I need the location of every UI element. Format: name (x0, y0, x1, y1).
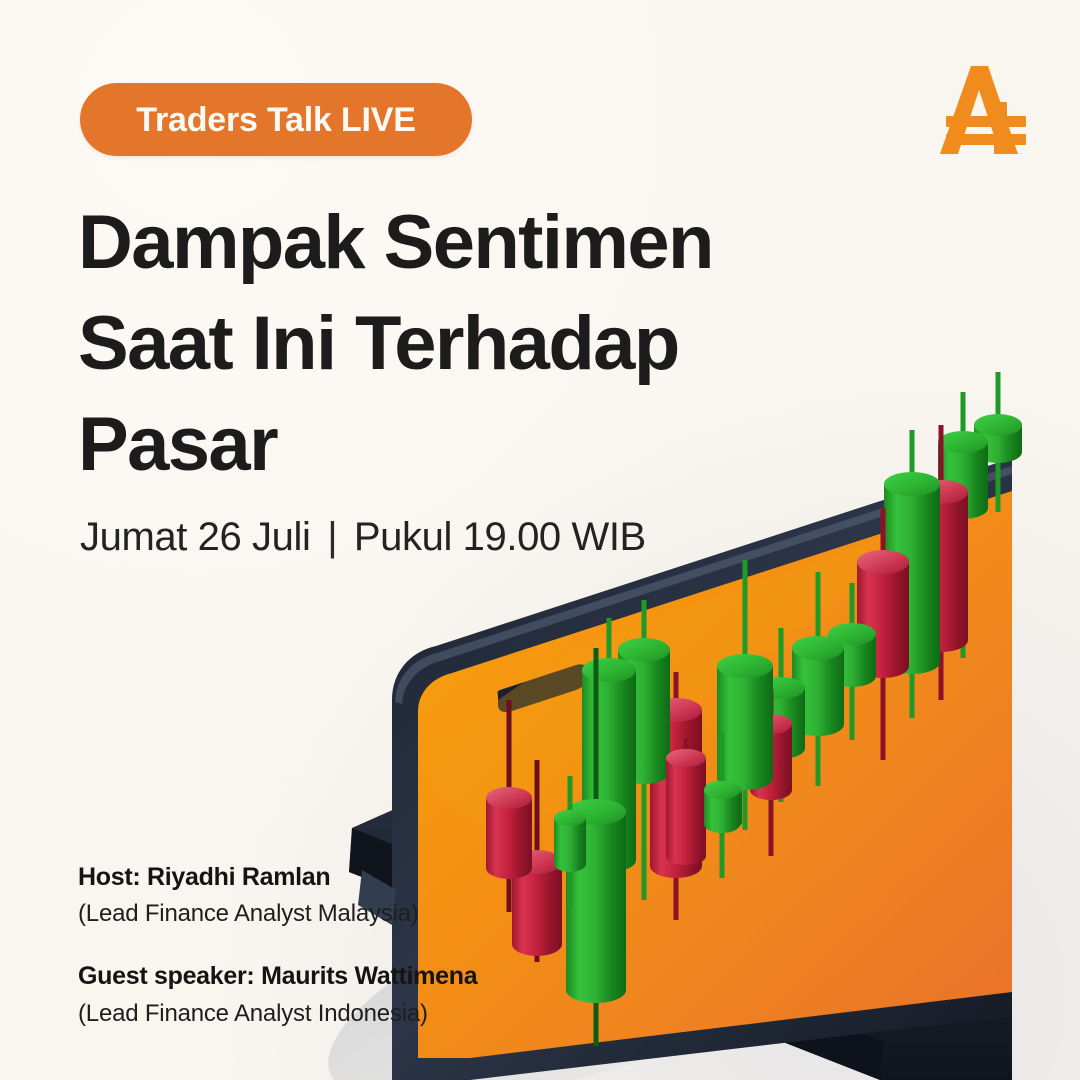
headline-line-3: Pasar (78, 394, 818, 495)
brand-logo[interactable] (930, 62, 1038, 158)
headline-line-1: Dampak Sentimen (78, 192, 818, 293)
letter-a-currency-icon (930, 62, 1038, 158)
host-role: (Lead Finance Analyst Malaysia) (78, 898, 598, 929)
event-datetime: Jumat 26 Juli | Pukul 19.00 WIB (80, 515, 646, 560)
event-date: Jumat 26 Juli (80, 515, 310, 559)
credit-guest: Guest speaker: Maurits Wattimena (Lead F… (78, 961, 598, 1028)
guest-name: Guest speaker: Maurits Wattimena (78, 961, 598, 992)
host-name: Host: Riyadhi Ramlan (78, 862, 598, 893)
page-title: Dampak Sentimen Saat Ini Terhadap Pasar (78, 192, 818, 495)
credit-host: Host: Riyadhi Ramlan (Lead Finance Analy… (78, 862, 598, 929)
speaker-credits: Host: Riyadhi Ramlan (Lead Finance Analy… (78, 862, 598, 1029)
poster-canvas: Traders Talk LIVE Dampak Sentimen Saat I… (0, 0, 1080, 1080)
live-badge[interactable]: Traders Talk LIVE (80, 83, 472, 156)
guest-role: (Lead Finance Analyst Indonesia) (78, 998, 598, 1029)
event-time: Pukul 19.00 WIB (354, 515, 646, 559)
datetime-separator: | (327, 515, 337, 560)
headline-line-2: Saat Ini Terhadap (78, 293, 818, 394)
live-badge-label: Traders Talk LIVE (136, 103, 415, 137)
